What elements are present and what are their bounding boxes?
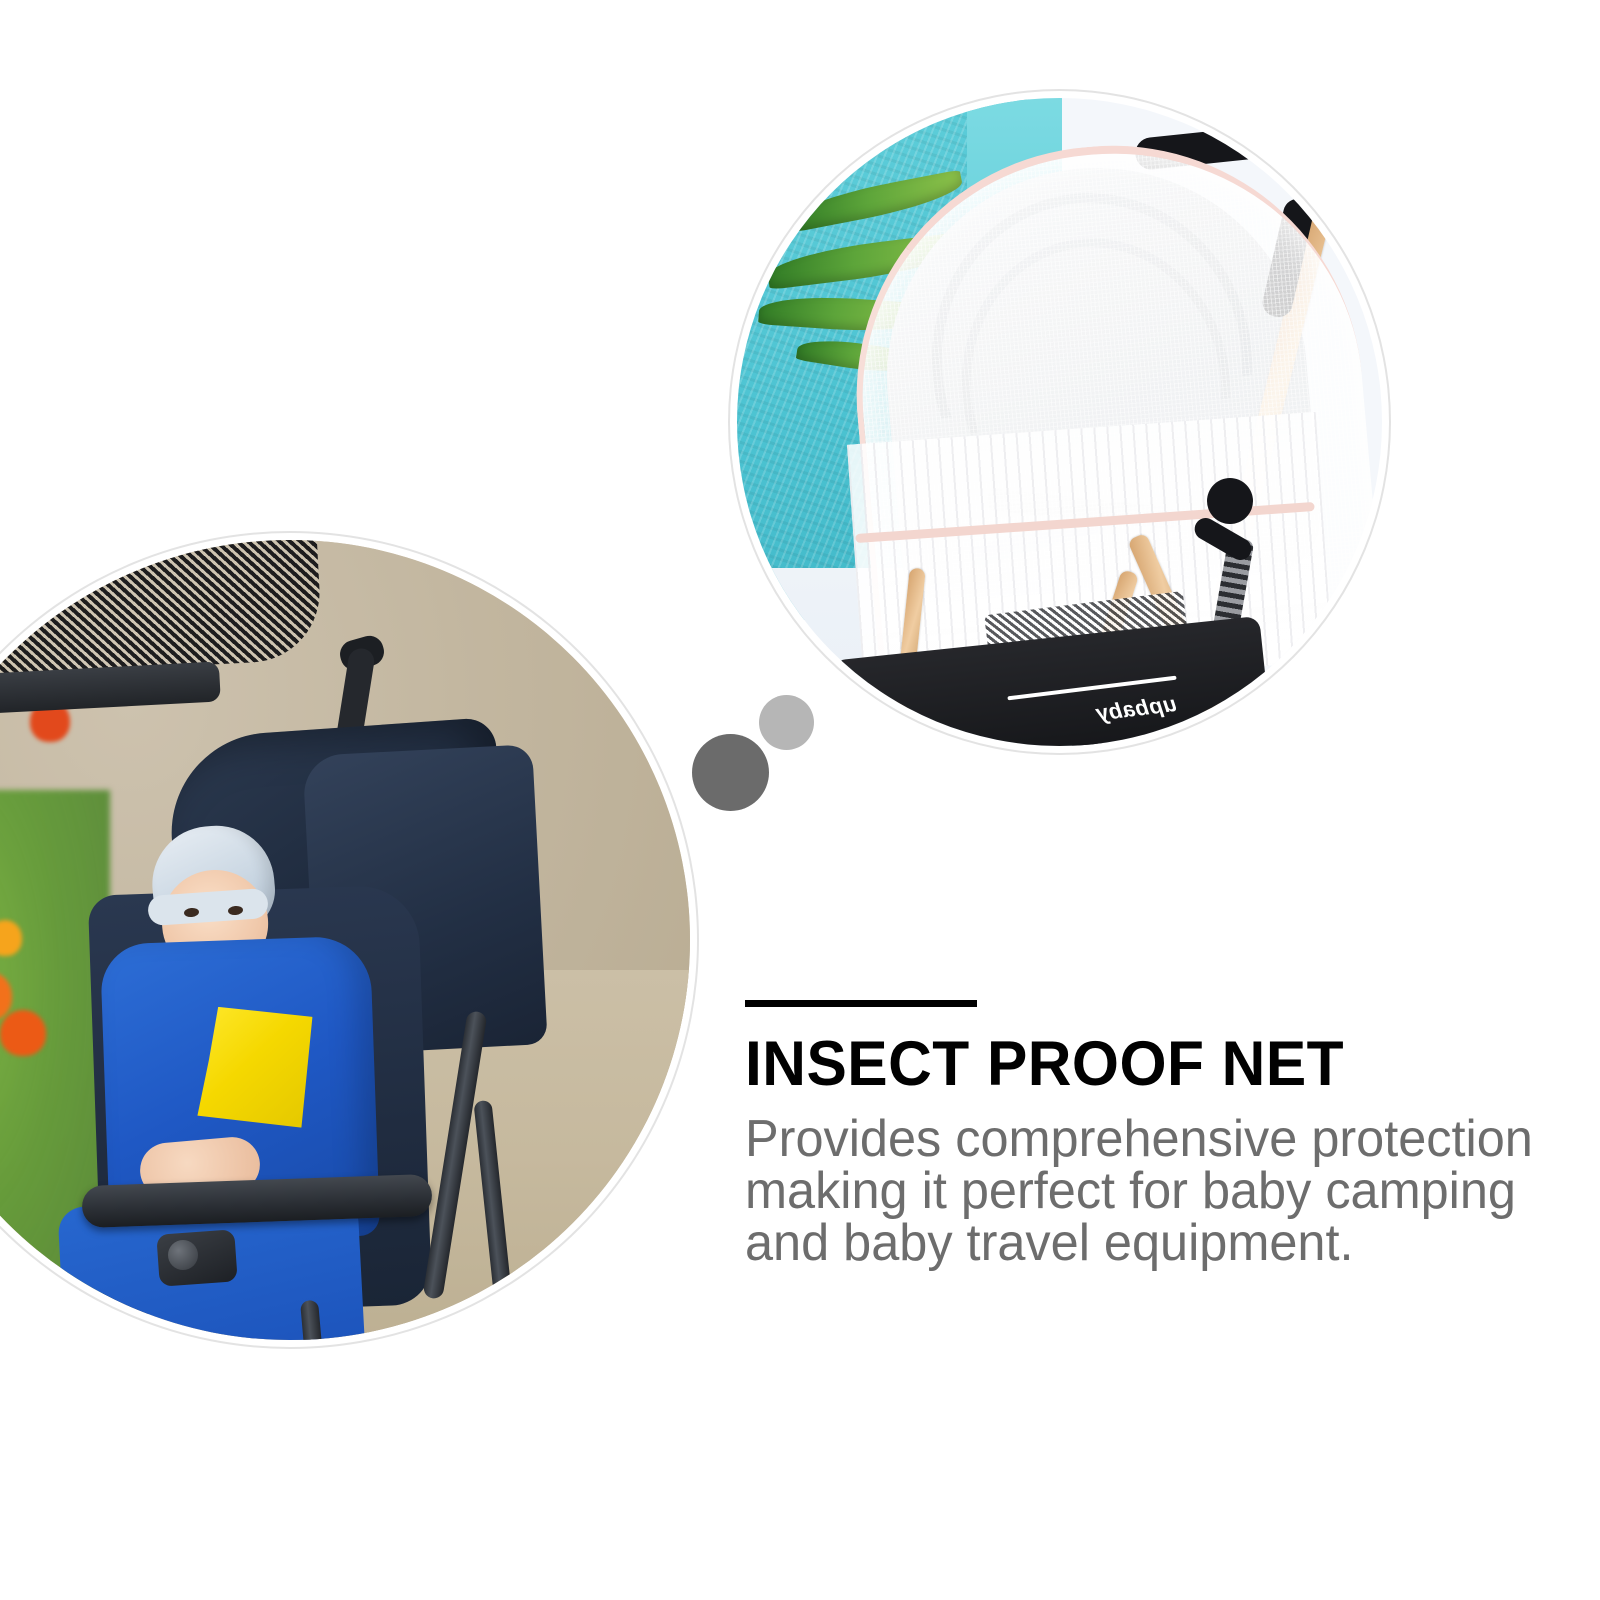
- feature-text-block: INSECT PROOF NET Provides comprehensive …: [745, 1000, 1585, 1269]
- page-title: INSECT PROOF NET: [745, 1031, 1551, 1097]
- basket-foot: [1067, 743, 1127, 746]
- baby-in-stroller-photo: [0, 540, 690, 1340]
- insect-net-product-photo: upbaby: [737, 98, 1382, 746]
- wheel-hub: [1207, 478, 1253, 524]
- product-feature-card: upbaby: [0, 0, 1600, 1600]
- decorative-dot-light: [759, 695, 814, 750]
- decorative-dot-dark: [692, 734, 769, 811]
- tulip-flower: [0, 1010, 46, 1056]
- feature-description: Provides comprehensive protection making…: [745, 1113, 1560, 1269]
- headline-divider-rule: [745, 1000, 977, 1007]
- harness-buckle-button: [168, 1240, 198, 1270]
